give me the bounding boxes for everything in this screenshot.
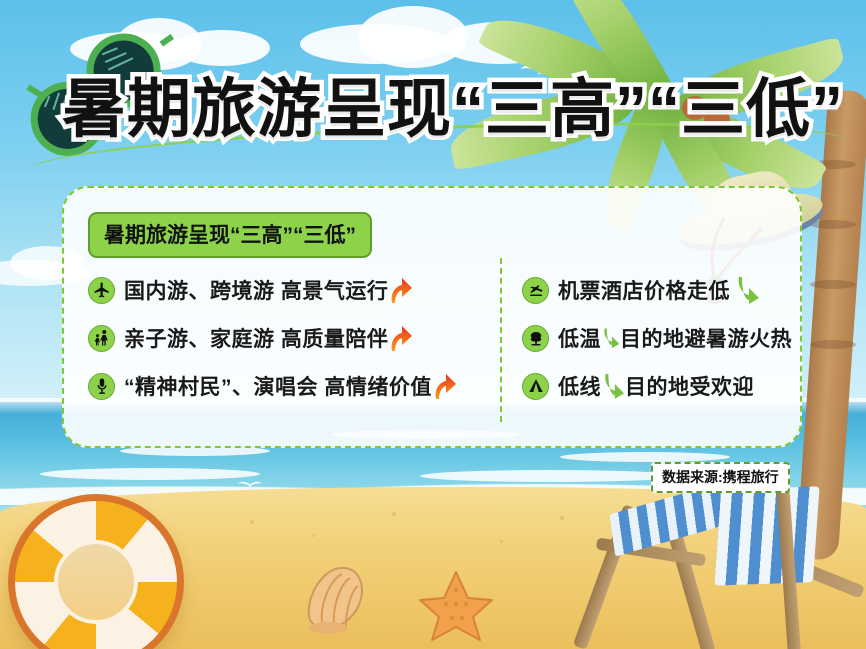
list-item-label: 低线 <box>558 371 601 401</box>
list-item[interactable]: “精神村民”、演唱会 高情绪价值 <box>88 362 488 410</box>
tree-icon <box>522 325 549 352</box>
parent-child-icon <box>88 325 115 352</box>
trend-down-icon <box>601 372 625 400</box>
list-item-label: “精神村民”、演唱会 高情绪价值 <box>124 371 432 401</box>
list-item[interactable]: 国内游、跨境游 高景气运行 <box>88 266 488 314</box>
list-item[interactable]: 低线 目的地受欢迎 <box>522 362 792 410</box>
microphone-icon <box>88 373 115 400</box>
list-item-label-suffix: 目的地受欢迎 <box>625 371 754 401</box>
column-divider <box>500 258 502 422</box>
page-title: 暑期旅游呈现“三高”“三低” <box>62 66 862 152</box>
ticket-discount-icon <box>522 277 549 304</box>
starfish-icon <box>418 570 494 642</box>
list-item-label: 国内游、跨境游 高景气运行 <box>124 275 388 305</box>
list-item[interactable]: 低温 目的地避暑游火热 <box>522 314 792 362</box>
list-item-label: 低温 <box>558 323 601 353</box>
seashell-icon <box>300 562 372 636</box>
list-item[interactable]: 机票酒店价格走低 <box>522 266 792 314</box>
poster-canvas: 暑期旅游呈现“三高”“三低” 暑期旅游呈现“三高”“三低” 国内游、跨境游 高景… <box>0 0 866 649</box>
trend-down-icon <box>734 275 760 305</box>
info-card: 暑期旅游呈现“三高”“三低” 国内游、跨境游 高景气运行 <box>62 186 802 448</box>
trend-up-icon <box>388 275 414 305</box>
right-column: 机票酒店价格走低 低温 目的地避暑游火热 <box>522 266 792 410</box>
airplane-icon <box>88 277 115 304</box>
trend-up-icon <box>388 323 414 353</box>
list-item-label: 亲子游、家庭游 高质量陪伴 <box>124 323 388 353</box>
list-item-label-suffix: 目的地避暑游火热 <box>620 323 792 353</box>
list-item-label: 机票酒店价格走低 <box>558 275 730 305</box>
trend-up-icon <box>432 371 458 401</box>
left-column: 国内游、跨境游 高景气运行 亲子游、家庭游 高质量陪伴 <box>88 266 488 410</box>
deck-chair-icon <box>600 492 850 649</box>
card-header: 暑期旅游呈现“三高”“三低” <box>88 212 372 258</box>
mountain-icon <box>522 373 549 400</box>
list-item[interactable]: 亲子游、家庭游 高质量陪伴 <box>88 314 488 362</box>
data-source-label: 数据来源:携程旅行 <box>651 462 790 493</box>
trend-down-icon <box>601 324 620 352</box>
